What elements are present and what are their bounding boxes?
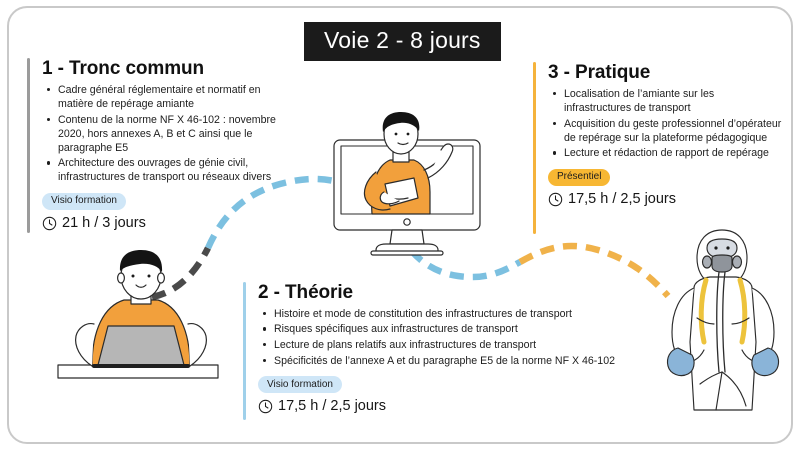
bullet-list: Histoire et mode de constitution des inf… — [258, 307, 633, 368]
clock-icon — [42, 216, 57, 231]
list-item: Architecture des ouvrages de génie civil… — [58, 156, 289, 184]
list-item: Lecture et rédaction de rapport de repér… — [564, 146, 783, 160]
list-item: Risques spécifiques aux infrastructures … — [274, 322, 633, 336]
duration-label: 21 h / 3 jours — [62, 216, 146, 231]
bullet-list: Cadre général réglementaire et normatif … — [42, 83, 289, 185]
list-item: Localisation de l’amiante sur les infras… — [564, 87, 783, 115]
list-item: Spécificités de l’annexe A et du paragra… — [274, 354, 633, 368]
bullet-list: Localisation de l’amiante sur les infras… — [548, 87, 783, 160]
clock-icon — [258, 399, 273, 414]
presenter-on-monitor-illustration — [334, 112, 480, 255]
duration-label: 17,5 h / 2,5 jours — [568, 192, 676, 207]
section-heading: 2 - Théorie — [258, 282, 633, 304]
list-item: Acquisition du geste professionnel d’opé… — [564, 117, 783, 145]
list-item: Histoire et mode de constitution des inf… — [274, 307, 633, 321]
section-accent-rule-orange — [533, 62, 536, 234]
duration-row: 17,5 h / 2,5 jours — [258, 399, 633, 414]
duration-row: 21 h / 3 jours — [42, 216, 289, 231]
list-item: Lecture de plans relatifs aux infrastruc… — [274, 338, 633, 352]
slide-canvas: Voie 2 - 8 jours 1 - Tronc commun Cadre … — [0, 0, 800, 450]
status-badge: Présentiel — [548, 169, 610, 186]
section-pratique: 3 - Pratique Localisation de l’amiante s… — [533, 62, 783, 207]
duration-label: 17,5 h / 2,5 jours — [278, 399, 386, 414]
section-heading: 3 - Pratique — [548, 62, 783, 84]
section-accent-rule-gray — [27, 58, 30, 233]
list-item: Cadre général réglementaire et normatif … — [58, 83, 289, 111]
status-badge: Visio formation — [42, 193, 126, 210]
section-heading: 1 - Tronc commun — [42, 58, 289, 80]
duration-row: 17,5 h / 2,5 jours — [548, 192, 783, 207]
list-item: Contenu de la norme NF X 46-102 : novemb… — [58, 113, 289, 155]
clock-icon — [548, 192, 563, 207]
status-badge: Visio formation — [258, 376, 342, 393]
hazmat-worker-illustration — [667, 230, 778, 410]
section-theorie: 2 - Théorie Histoire et mode de constitu… — [243, 282, 633, 414]
page-title: Voie 2 - 8 jours — [304, 22, 501, 61]
section-tronc-commun: 1 - Tronc commun Cadre général réglement… — [27, 58, 289, 231]
section-accent-rule-blue — [243, 282, 246, 420]
